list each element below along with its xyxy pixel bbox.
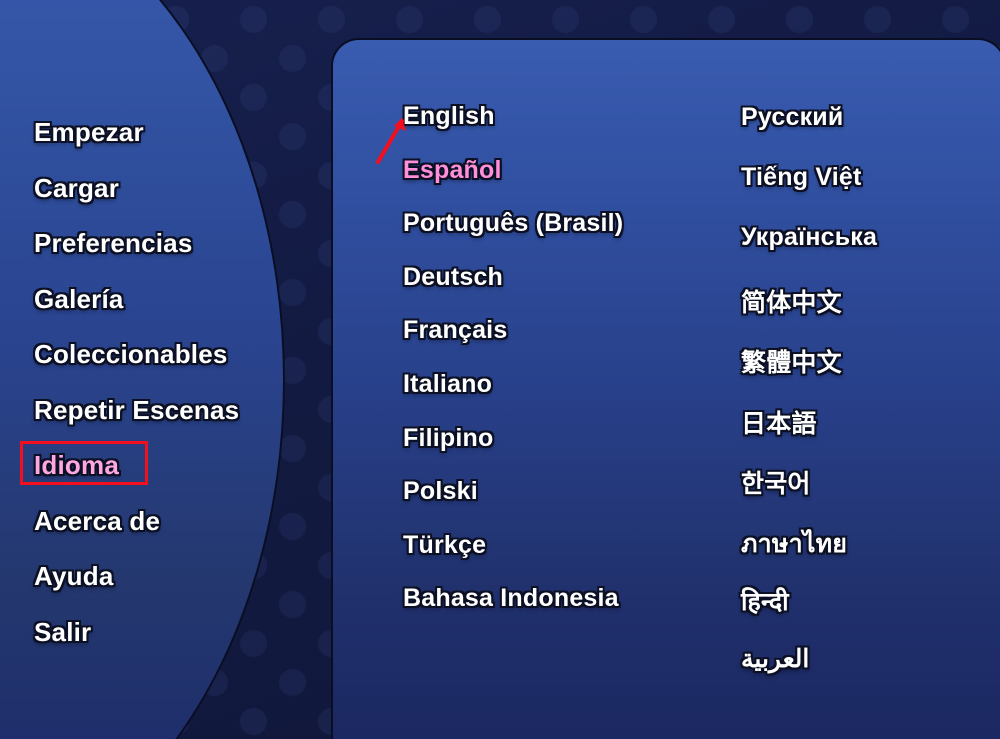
game-language-settings-screen: EmpezarCargarPreferenciasGaleríaColeccio…: [0, 0, 1000, 739]
menu-item-idioma[interactable]: Idioma: [34, 450, 119, 481]
menu-item-repetir-escenas[interactable]: Repetir Escenas: [34, 395, 239, 426]
menu-item-preferencias[interactable]: Preferencias: [34, 228, 193, 259]
language-option-english[interactable]: English: [403, 102, 495, 131]
menu-item-galeria[interactable]: Galería: [34, 284, 124, 315]
language-option-item[interactable]: العربية: [741, 644, 809, 674]
menu-item-ayuda[interactable]: Ayuda: [34, 561, 114, 592]
menu-item-empezar[interactable]: Empezar: [34, 117, 144, 148]
language-option-espanol[interactable]: Español: [403, 156, 502, 185]
language-option-item[interactable]: Русский: [741, 103, 843, 132]
language-option-item[interactable]: ภาษาไทย: [741, 524, 847, 564]
language-option-item[interactable]: 繁體中文: [741, 343, 842, 379]
language-option-item[interactable]: 한국어: [741, 464, 811, 500]
language-option-deutsch[interactable]: Deutsch: [403, 263, 503, 292]
language-option-item[interactable]: 日本語: [741, 404, 817, 440]
language-option-italiano[interactable]: Italiano: [403, 370, 492, 399]
language-option-bahasa-indonesia[interactable]: Bahasa Indonesia: [403, 584, 619, 613]
language-option-item[interactable]: 简体中文: [741, 283, 842, 319]
language-option-turkce[interactable]: Türkçe: [403, 531, 486, 560]
language-option-tieng-viet[interactable]: Tiếng Việt: [741, 163, 862, 192]
menu-item-coleccionables[interactable]: Coleccionables: [34, 339, 228, 370]
menu-item-acerca-de[interactable]: Acerca de: [34, 506, 160, 537]
language-option-filipino[interactable]: Filipino: [403, 424, 493, 453]
language-option-item[interactable]: हिन्दी: [741, 584, 789, 618]
menu-item-salir[interactable]: Salir: [34, 617, 91, 648]
language-option-polski[interactable]: Polski: [403, 477, 478, 506]
language-option-portugues-brasil[interactable]: Português (Brasil): [403, 209, 623, 238]
language-option-item[interactable]: Українська: [741, 223, 877, 252]
language-option-francais[interactable]: Français: [403, 316, 507, 345]
menu-item-cargar[interactable]: Cargar: [34, 173, 119, 204]
language-selection-panel: EnglishEspañolPortuguês (Brasil)DeutschF…: [331, 38, 1000, 739]
